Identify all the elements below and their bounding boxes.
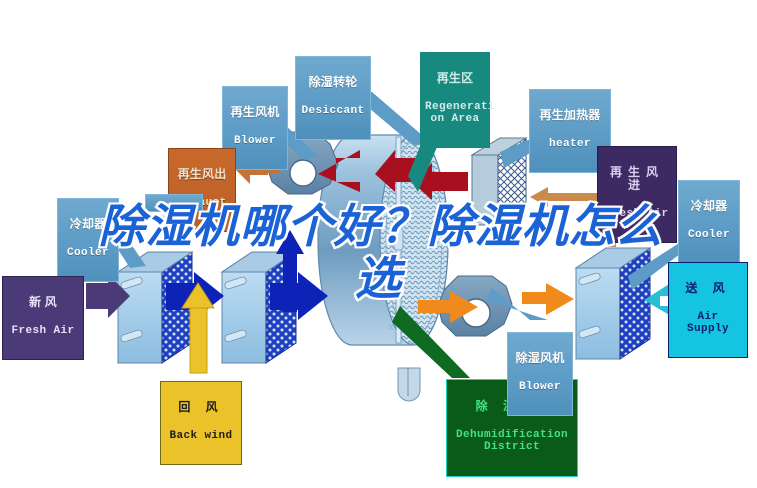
label-cooler-right-cn: 冷却器 — [684, 200, 734, 213]
label-regeneration-area-cn: 再生区 — [425, 72, 485, 85]
label-cooler-right[interactable]: 冷却器 Cooler — [678, 180, 740, 264]
label-cooler-left-cn: 冷却器 — [63, 218, 113, 231]
label-regeneration-area-en: Regenerati on Area — [425, 102, 485, 126]
label-back-wind[interactable]: 回 风 Back wind — [160, 381, 242, 465]
label-cooler-left[interactable]: 冷却器 Cooler — [57, 198, 119, 282]
arrow-blower-out — [522, 283, 574, 315]
label-regeneration-heater-cn: 再生加热器 — [535, 109, 605, 122]
label-fresh-air-in-cn: 新 风 — [8, 296, 78, 309]
label-air-supply-cn: 送 风 — [674, 282, 742, 295]
label-desiccant-wheel[interactable]: 除湿转轮 Desiccant — [295, 56, 371, 140]
label-regeneration-heater-en: heater — [535, 139, 605, 151]
label-regeneration-blower-cn: 再生风机 — [228, 106, 282, 119]
label-back-wind-en: Back wind — [166, 431, 236, 443]
label-air-supply[interactable]: 送 风 Air Supply — [668, 262, 748, 358]
label-regeneration-area[interactable]: 再生区 Regenerati on Area — [420, 52, 490, 148]
label-exhaust-cn: 再生风出 — [174, 168, 230, 181]
label-regeneration-fresh-air-en: Fresh Air — [603, 209, 671, 221]
dehumidifier-schematic-diagram: xt — [0, 0, 757, 488]
label-dehumidification-blower[interactable]: 除湿风机 Blower — [507, 332, 573, 416]
label-cooler-mid[interactable]: 冷却器 — [145, 194, 203, 212]
label-desiccant-wheel-cn: 除湿转轮 — [301, 76, 365, 89]
label-desiccant-wheel-en: Desiccant — [301, 106, 365, 118]
label-air-supply-en: Air Supply — [674, 312, 742, 336]
label-regeneration-fresh-air[interactable]: 再生风进 Fresh Air — [597, 146, 677, 243]
label-fresh-air-in-en: Fresh Air — [8, 326, 78, 338]
drain-pan — [398, 368, 420, 401]
label-fresh-air-in[interactable]: 新 风 Fresh Air — [2, 276, 84, 360]
label-dehumidification-blower-en: Blower — [513, 382, 567, 394]
label-back-wind-cn: 回 风 — [166, 401, 236, 414]
label-cooler-left-en: Cooler — [63, 248, 113, 260]
label-cooler-right-en: Cooler — [684, 230, 734, 242]
label-dehumidification-blower-cn: 除湿风机 — [513, 352, 567, 365]
label-regeneration-fresh-air-cn: 再生风进 — [603, 166, 671, 192]
label-regeneration-blower-en: Blower — [228, 136, 282, 148]
label-dehumidification-district-en: Dehumidification District — [453, 430, 571, 454]
cooler-block-3 — [576, 248, 650, 359]
label-cooler-mid-cn: 冷却器 — [151, 213, 197, 226]
